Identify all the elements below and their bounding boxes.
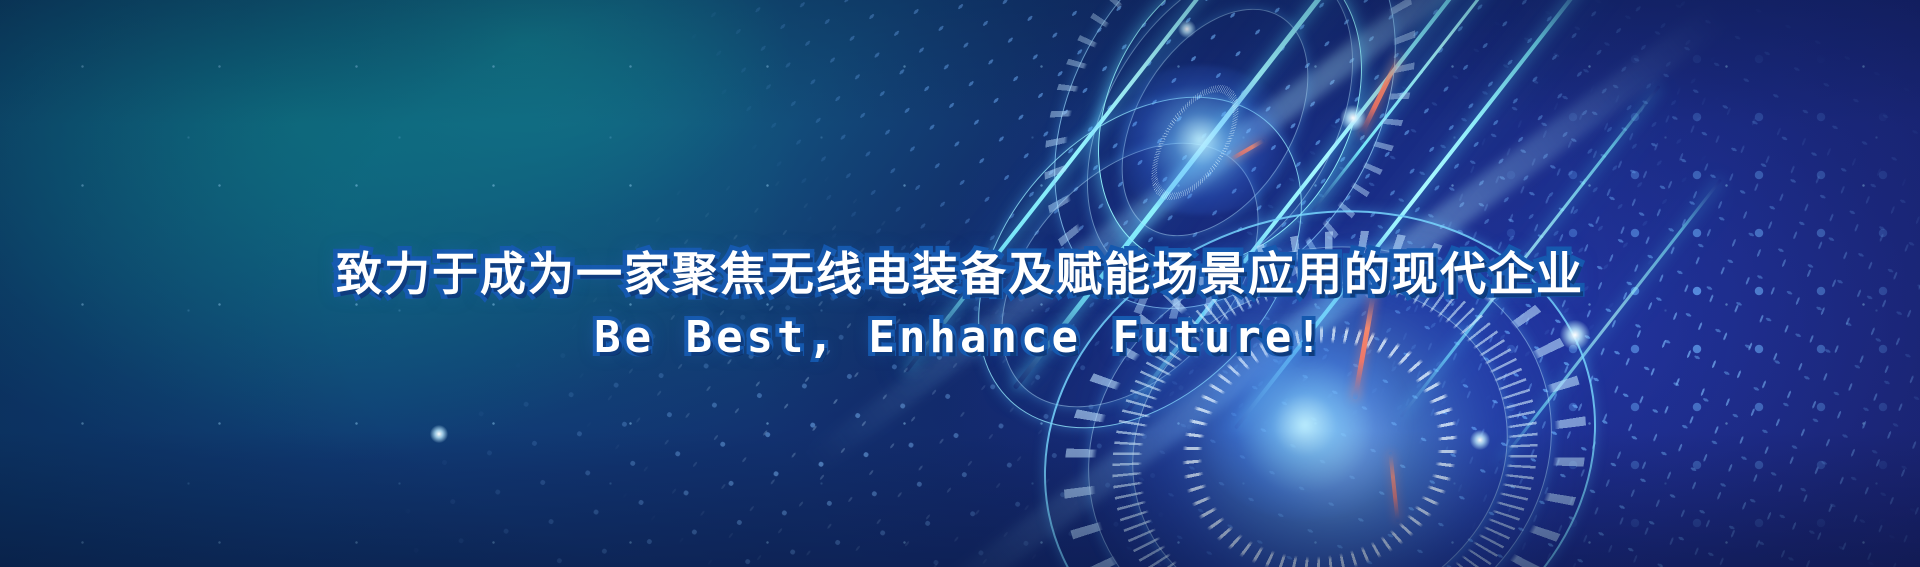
hero-banner: 致力于成为一家聚焦无线电装备及赋能场景应用的现代企业 Be Best, Enha… xyxy=(0,0,1920,567)
headline-group: 致力于成为一家聚焦无线电装备及赋能场景应用的现代企业 Be Best, Enha… xyxy=(0,243,1920,367)
headline-chinese: 致力于成为一家聚焦无线电装备及赋能场景应用的现代企业 xyxy=(0,243,1920,305)
headline-english: Be Best, Enhance Future! xyxy=(0,309,1920,367)
